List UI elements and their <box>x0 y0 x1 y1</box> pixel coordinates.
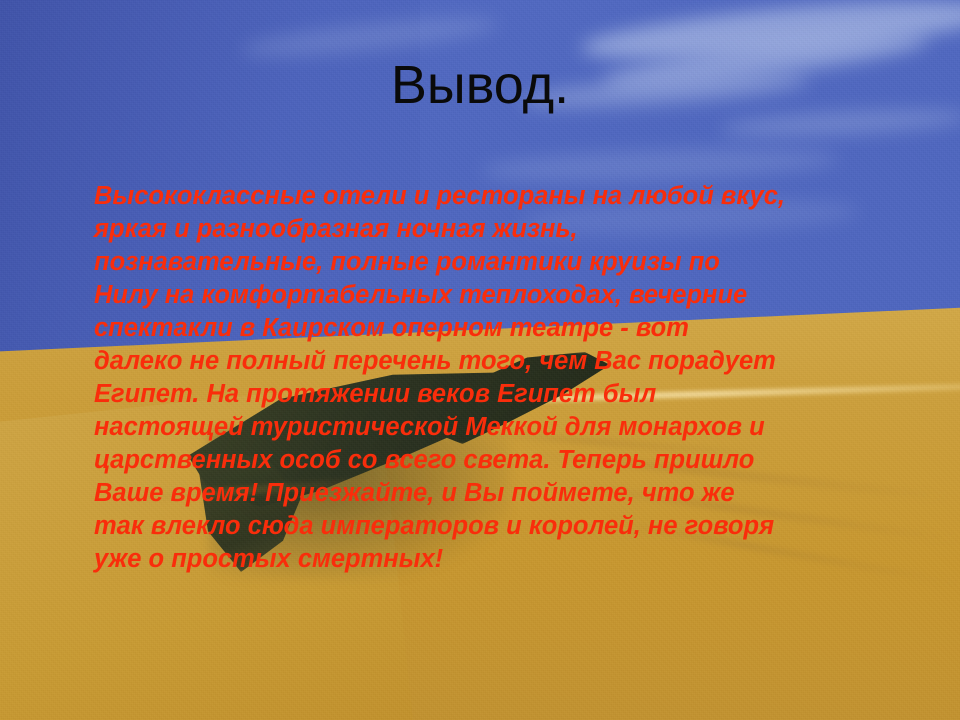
slide-body-line: яркая и разнообразная ночная жизнь, <box>94 213 884 246</box>
slide-body-text: Высококлассные отели и рестораны на любо… <box>94 180 884 576</box>
slide-body-line: настоящей туристической Меккой для монар… <box>94 411 884 444</box>
slide-body-line: уже о простых смертных! <box>94 543 884 576</box>
presentation-slide: Вывод. Высококлассные отели и рестораны … <box>0 0 960 720</box>
slide-body-line: Высококлассные отели и рестораны на любо… <box>94 180 884 213</box>
slide-body-line: Нилу на комфортабельных теплоходах, вече… <box>94 279 884 312</box>
slide-title: Вывод. <box>0 57 960 113</box>
slide-body-line: познавательные, полные романтики круизы … <box>94 246 884 279</box>
slide-body-line: царственных особ со всего света. Теперь … <box>94 444 884 477</box>
slide-body-line: так влекло сюда императоров и королей, н… <box>94 510 884 543</box>
slide-body-line: далеко не полный перечень того, чем Вас … <box>94 345 884 378</box>
slide-body-line: Ваше время! Приезжайте, и Вы поймете, чт… <box>94 477 884 510</box>
slide-body-line: спектакли в Каирском оперном театре - во… <box>94 312 884 345</box>
slide-body-line: Египет. На протяжении веков Египет был <box>94 378 884 411</box>
